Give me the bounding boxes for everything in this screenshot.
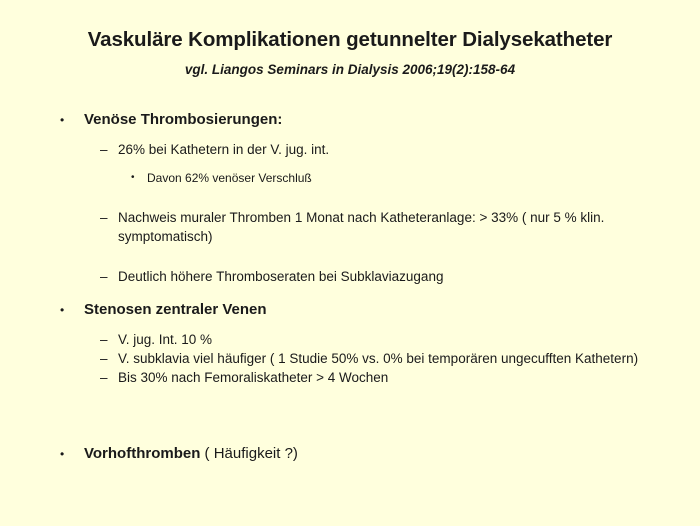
spacer — [0, 159, 700, 169]
dash-marker-level2: – — [100, 140, 108, 159]
bullet-text: Venöse Thrombosierungen: — [84, 110, 700, 130]
bullet-marker-level1: • — [60, 110, 64, 130]
subbullet-deutlich-hoehere-thromboseraten: – Deutlich höhere Thromboseraten bei Sub… — [0, 267, 700, 286]
subsubbullet-davon-62-prozent: • Davon 62% venöser Verschluß — [0, 169, 700, 187]
bullet-text: Vorhofthromben ( Häufigkeit ?) — [84, 444, 700, 464]
subsubbullet-text: Davon 62% venöser Verschluß — [147, 169, 700, 187]
subbullet-text: 26% bei Kathetern in der V. jug. int. — [118, 140, 700, 159]
dash-marker-level2: – — [100, 208, 108, 227]
slide-canvas: Vaskuläre Komplikationen getunnelter Dia… — [0, 0, 700, 526]
subbullet-text: V. jug. Int. 10 % — [118, 330, 700, 349]
bullet-text: Stenosen zentraler Venen — [84, 300, 700, 320]
bullet-marker-level1: • — [60, 444, 64, 464]
spacer — [0, 387, 700, 444]
spacer — [0, 187, 700, 208]
dash-marker-level2: – — [100, 349, 108, 368]
subbullet-v-jug-int: – V. jug. Int. 10 % — [0, 330, 700, 349]
dash-marker-level2: – — [100, 330, 108, 349]
bullet-marker-level1: • — [60, 300, 64, 320]
bullet-marker-level3: • — [131, 169, 135, 187]
subbullet-v-subklavia: – V. subklavia viel häufiger ( 1 Studie … — [0, 349, 700, 368]
dash-marker-level2: – — [100, 368, 108, 387]
slide-title: Vaskuläre Komplikationen getunnelter Dia… — [0, 29, 700, 52]
bullet-text-bold: Vorhofthromben — [84, 445, 200, 462]
bullet-text-regular: ( Häufigkeit ?) — [200, 445, 298, 462]
dash-marker-level2: – — [100, 267, 108, 286]
slide-subtitle: vgl. Liangos Seminars in Dialysis 2006;1… — [0, 62, 700, 78]
bullet-vorhofthromben: • Vorhofthromben ( Häufigkeit ?) — [0, 444, 700, 464]
subbullet-nachweis-muraler-thromben: – Nachweis muraler Thromben 1 Monat nach… — [0, 208, 700, 246]
spacer — [0, 286, 700, 300]
subbullet-text: Bis 30% nach Femoraliskatheter > 4 Woche… — [118, 368, 700, 387]
spacer — [0, 320, 700, 330]
subbullet-text: Nachweis muraler Thromben 1 Monat nach K… — [118, 208, 700, 246]
bullet-stenosen-zentraler-venen: • Stenosen zentraler Venen — [0, 300, 700, 320]
subbullet-bis-30-prozent-femoralis: – Bis 30% nach Femoraliskatheter > 4 Woc… — [0, 368, 700, 387]
subbullet-text: V. subklavia viel häufiger ( 1 Studie 50… — [118, 349, 700, 368]
spacer — [0, 246, 700, 267]
subbullet-text: Deutlich höhere Thromboseraten bei Subkl… — [118, 267, 700, 286]
subbullet-26-prozent-katheter: – 26% bei Kathetern in der V. jug. int. — [0, 140, 700, 159]
slide-body: • Venöse Thrombosierungen: – 26% bei Kat… — [0, 110, 700, 464]
spacer — [0, 130, 700, 140]
bullet-venoese-thrombosierungen: • Venöse Thrombosierungen: — [0, 110, 700, 130]
